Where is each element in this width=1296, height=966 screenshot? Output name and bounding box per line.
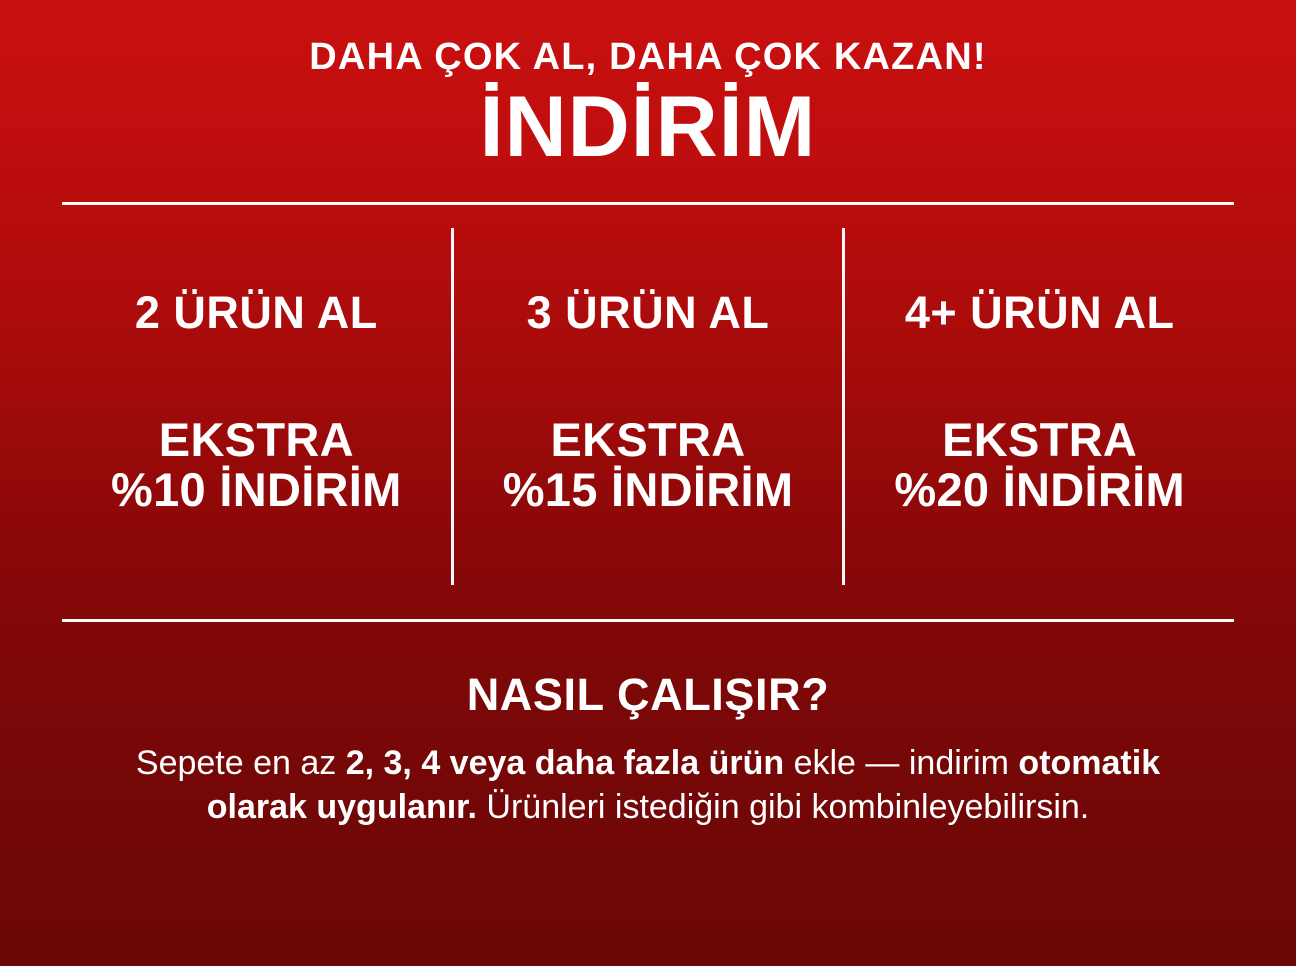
tier-offer: EKSTRA %10 İNDİRİM: [111, 335, 402, 516]
body-text-run: Ürünleri istediğin gibi kombinleyebilirs…: [477, 788, 1089, 826]
body-text-run: ekle — indirim: [784, 744, 1018, 782]
tier-offer-line1: EKSTRA: [550, 413, 745, 466]
discount-tier-3[interactable]: 3 ÜRÜN AL EKSTRA %15 İNDİRİM: [454, 228, 843, 585]
tier-offer-line1: EKSTRA: [942, 413, 1137, 466]
tier-offer-line1: EKSTRA: [159, 413, 354, 466]
promo-banner: DAHA ÇOK AL, DAHA ÇOK KAZAN! İNDİRİM 2 Ü…: [0, 0, 1296, 966]
body-text-run: Sepete en az: [136, 744, 346, 782]
tier-offer-line2: %10 İNDİRİM: [111, 465, 402, 515]
how-it-works-body: Sepete en az 2, 3, 4 veya daha fazla ürü…: [118, 717, 1178, 829]
discount-tier-list: 2 ÜRÜN AL EKSTRA %10 İNDİRİM 3 ÜRÜN AL E…: [62, 228, 1234, 585]
how-it-works-section: NASIL ÇALIŞIR? Sepete en az 2, 3, 4 veya…: [0, 672, 1296, 829]
promo-kicker: DAHA ÇOK AL, DAHA ÇOK KAZAN!: [0, 0, 1296, 78]
body-text-emphasis: 2, 3, 4 veya daha fazla ürün: [346, 744, 784, 782]
tier-offer: EKSTRA %15 İNDİRİM: [503, 335, 794, 516]
banner-header: DAHA ÇOK AL, DAHA ÇOK KAZAN! İNDİRİM: [0, 0, 1296, 170]
discount-tier-2[interactable]: 2 ÜRÜN AL EKSTRA %10 İNDİRİM: [62, 228, 451, 585]
divider-top: [62, 202, 1234, 205]
tier-title: 4+ ÜRÜN AL: [905, 228, 1175, 335]
tier-offer-line2: %20 İNDİRİM: [894, 465, 1185, 515]
discount-tier-4plus[interactable]: 4+ ÜRÜN AL EKSTRA %20 İNDİRİM: [845, 228, 1234, 585]
promo-headline: İNDİRİM: [0, 78, 1296, 170]
tier-offer: EKSTRA %20 İNDİRİM: [894, 335, 1185, 516]
tier-offer-line2: %15 İNDİRİM: [503, 465, 794, 515]
how-it-works-title: NASIL ÇALIŞIR?: [0, 672, 1296, 717]
tier-title: 3 ÜRÜN AL: [527, 228, 770, 335]
tier-title: 2 ÜRÜN AL: [135, 228, 378, 335]
divider-bottom: [62, 619, 1234, 622]
